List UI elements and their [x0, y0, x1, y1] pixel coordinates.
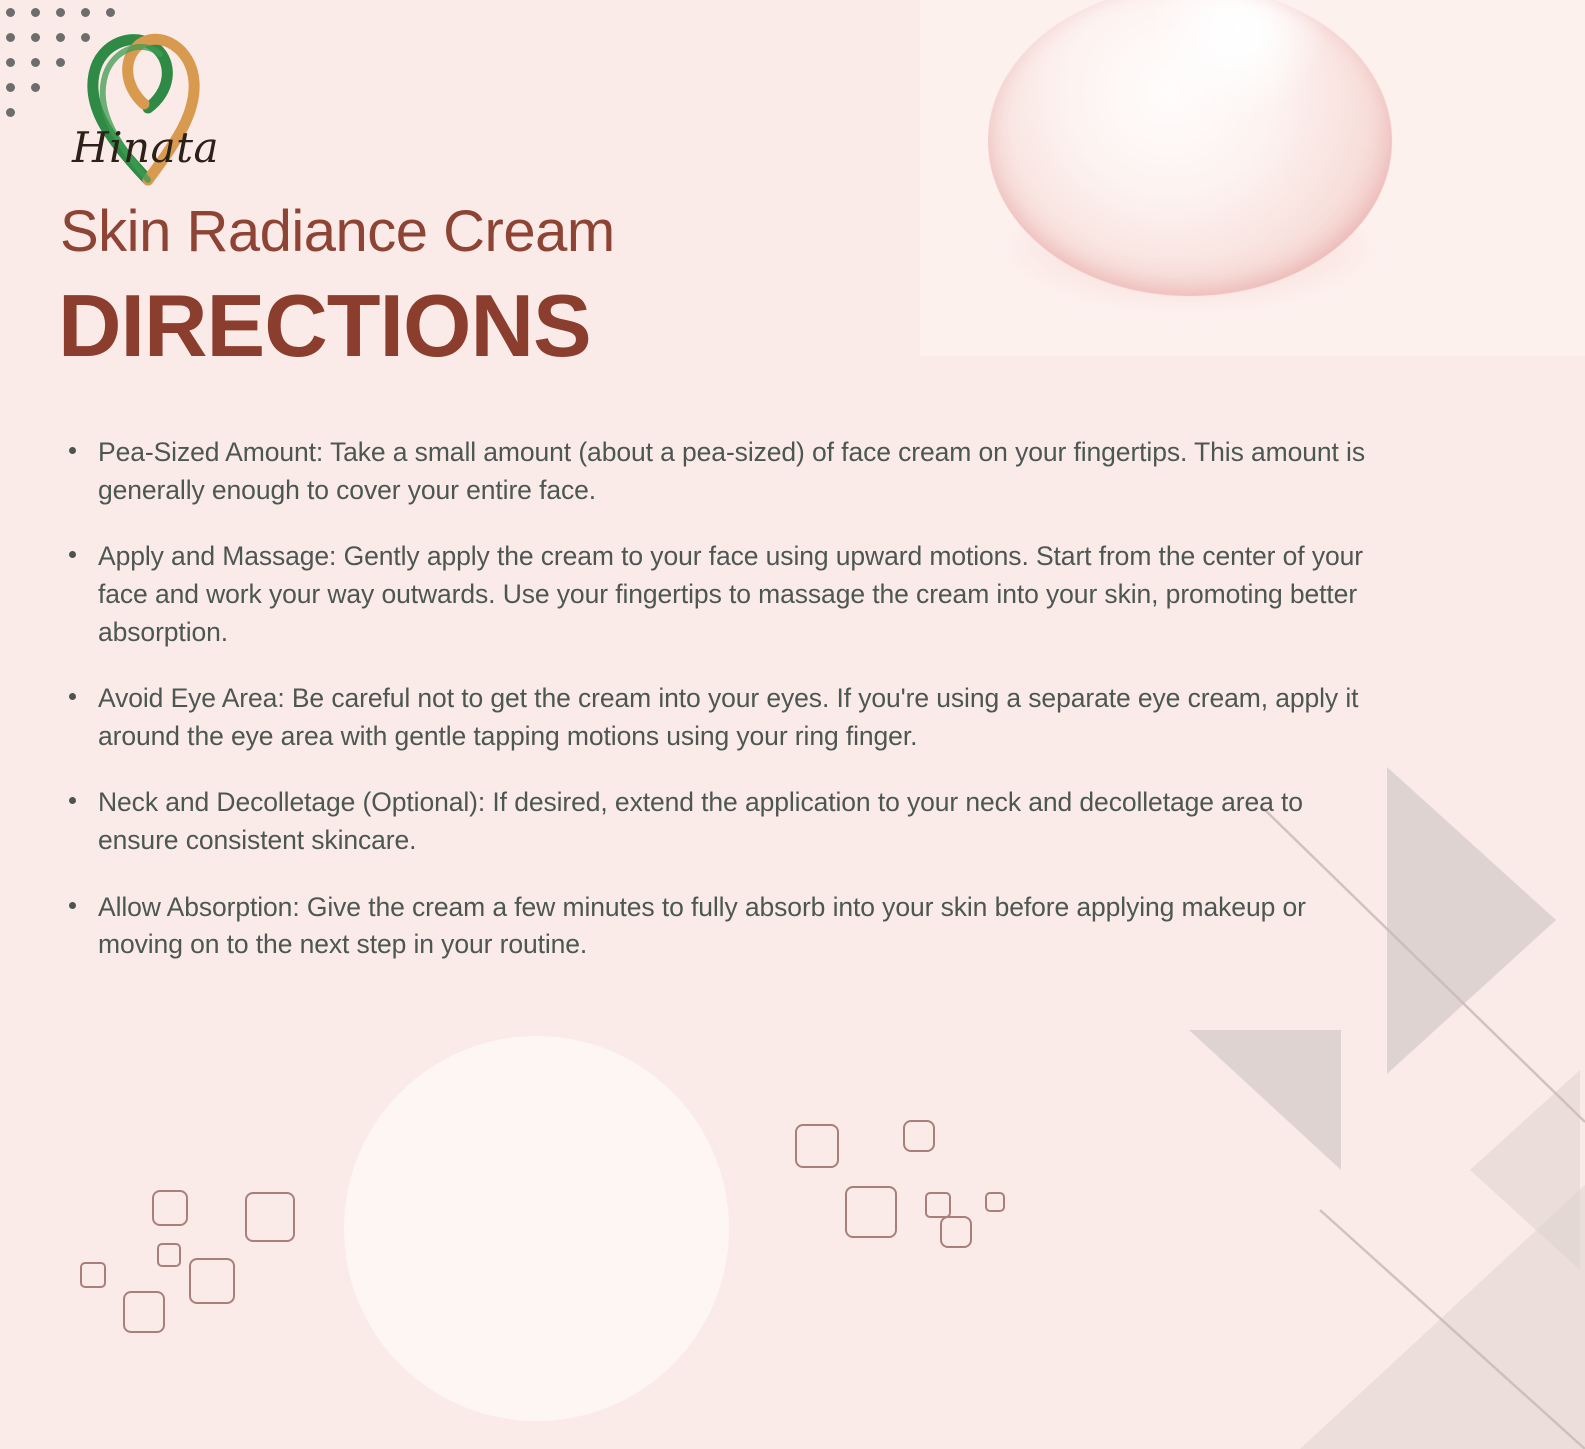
sphere-rim: [988, 0, 1392, 296]
rounded-square-outline-icon: [80, 1262, 106, 1288]
grid-dot: [56, 33, 65, 42]
grid-dot: [6, 108, 15, 117]
rounded-square-outline-icon: [925, 1192, 951, 1218]
list-item-text: Allow Absorption: Give the cream a few m…: [98, 889, 1390, 964]
illustration-ring: [344, 1036, 729, 1421]
list-item-text: Avoid Eye Area: Be careful not to get th…: [98, 680, 1390, 755]
rounded-square-outline-icon: [152, 1190, 188, 1226]
list-item: Pea-Sized Amount: Take a small amount (a…: [60, 434, 1390, 509]
list-item: Allow Absorption: Give the cream a few m…: [60, 889, 1390, 964]
rounded-square-outline-icon: [123, 1291, 165, 1333]
rounded-square-outline-icon: [157, 1243, 181, 1267]
triangle-icon: [1470, 1070, 1580, 1270]
triangle-icon: [1189, 1030, 1341, 1170]
grid-dot: [6, 8, 15, 17]
bullet-icon: [69, 551, 76, 558]
rounded-square-outline-icon: [189, 1258, 235, 1304]
grid-dot: [31, 83, 40, 92]
list-item-text: Apply and Massage: Gently apply the crea…: [98, 538, 1390, 651]
rounded-square-outline-icon: [985, 1192, 1005, 1212]
grid-dot: [56, 8, 65, 17]
bullet-icon: [69, 447, 76, 454]
list-item: Avoid Eye Area: Be careful not to get th…: [60, 680, 1390, 755]
page-title: DIRECTIONS: [58, 275, 591, 377]
triangle-icon: [1300, 1185, 1585, 1449]
grid-dot: [31, 33, 40, 42]
list-item-text: Pea-Sized Amount: Take a small amount (a…: [98, 434, 1390, 509]
product-title: Skin Radiance Cream: [60, 198, 615, 265]
grid-dot: [31, 8, 40, 17]
rounded-square-outline-icon: [795, 1124, 839, 1168]
list-item: Neck and Decolletage (Optional): If desi…: [60, 784, 1390, 859]
grid-dot: [31, 58, 40, 67]
brand-name: Hinata: [72, 123, 219, 172]
skin-absorption-icon: [344, 1036, 729, 1421]
list-item-text: Neck and Decolletage (Optional): If desi…: [98, 784, 1390, 859]
triangle-icon: [1387, 767, 1556, 1074]
rounded-square-outline-icon: [903, 1120, 935, 1152]
grid-dot: [6, 58, 15, 67]
poster-canvas: Hinata Skin Radiance Cream DIRECTIONS Pe…: [0, 0, 1585, 1449]
grid-dot: [6, 33, 15, 42]
bullet-icon: [69, 797, 76, 804]
list-item: Apply and Massage: Gently apply the crea…: [60, 538, 1390, 651]
rounded-square-outline-icon: [940, 1216, 972, 1248]
directions-list: Pea-Sized Amount: Take a small amount (a…: [60, 434, 1390, 993]
grid-dot: [6, 83, 15, 92]
rounded-square-outline-icon: [245, 1192, 295, 1242]
bullet-icon: [69, 902, 76, 909]
diagonal-line: [1320, 1210, 1585, 1449]
bullet-icon: [69, 693, 76, 700]
grid-dot: [56, 58, 65, 67]
rounded-square-outline-icon: [845, 1186, 897, 1238]
